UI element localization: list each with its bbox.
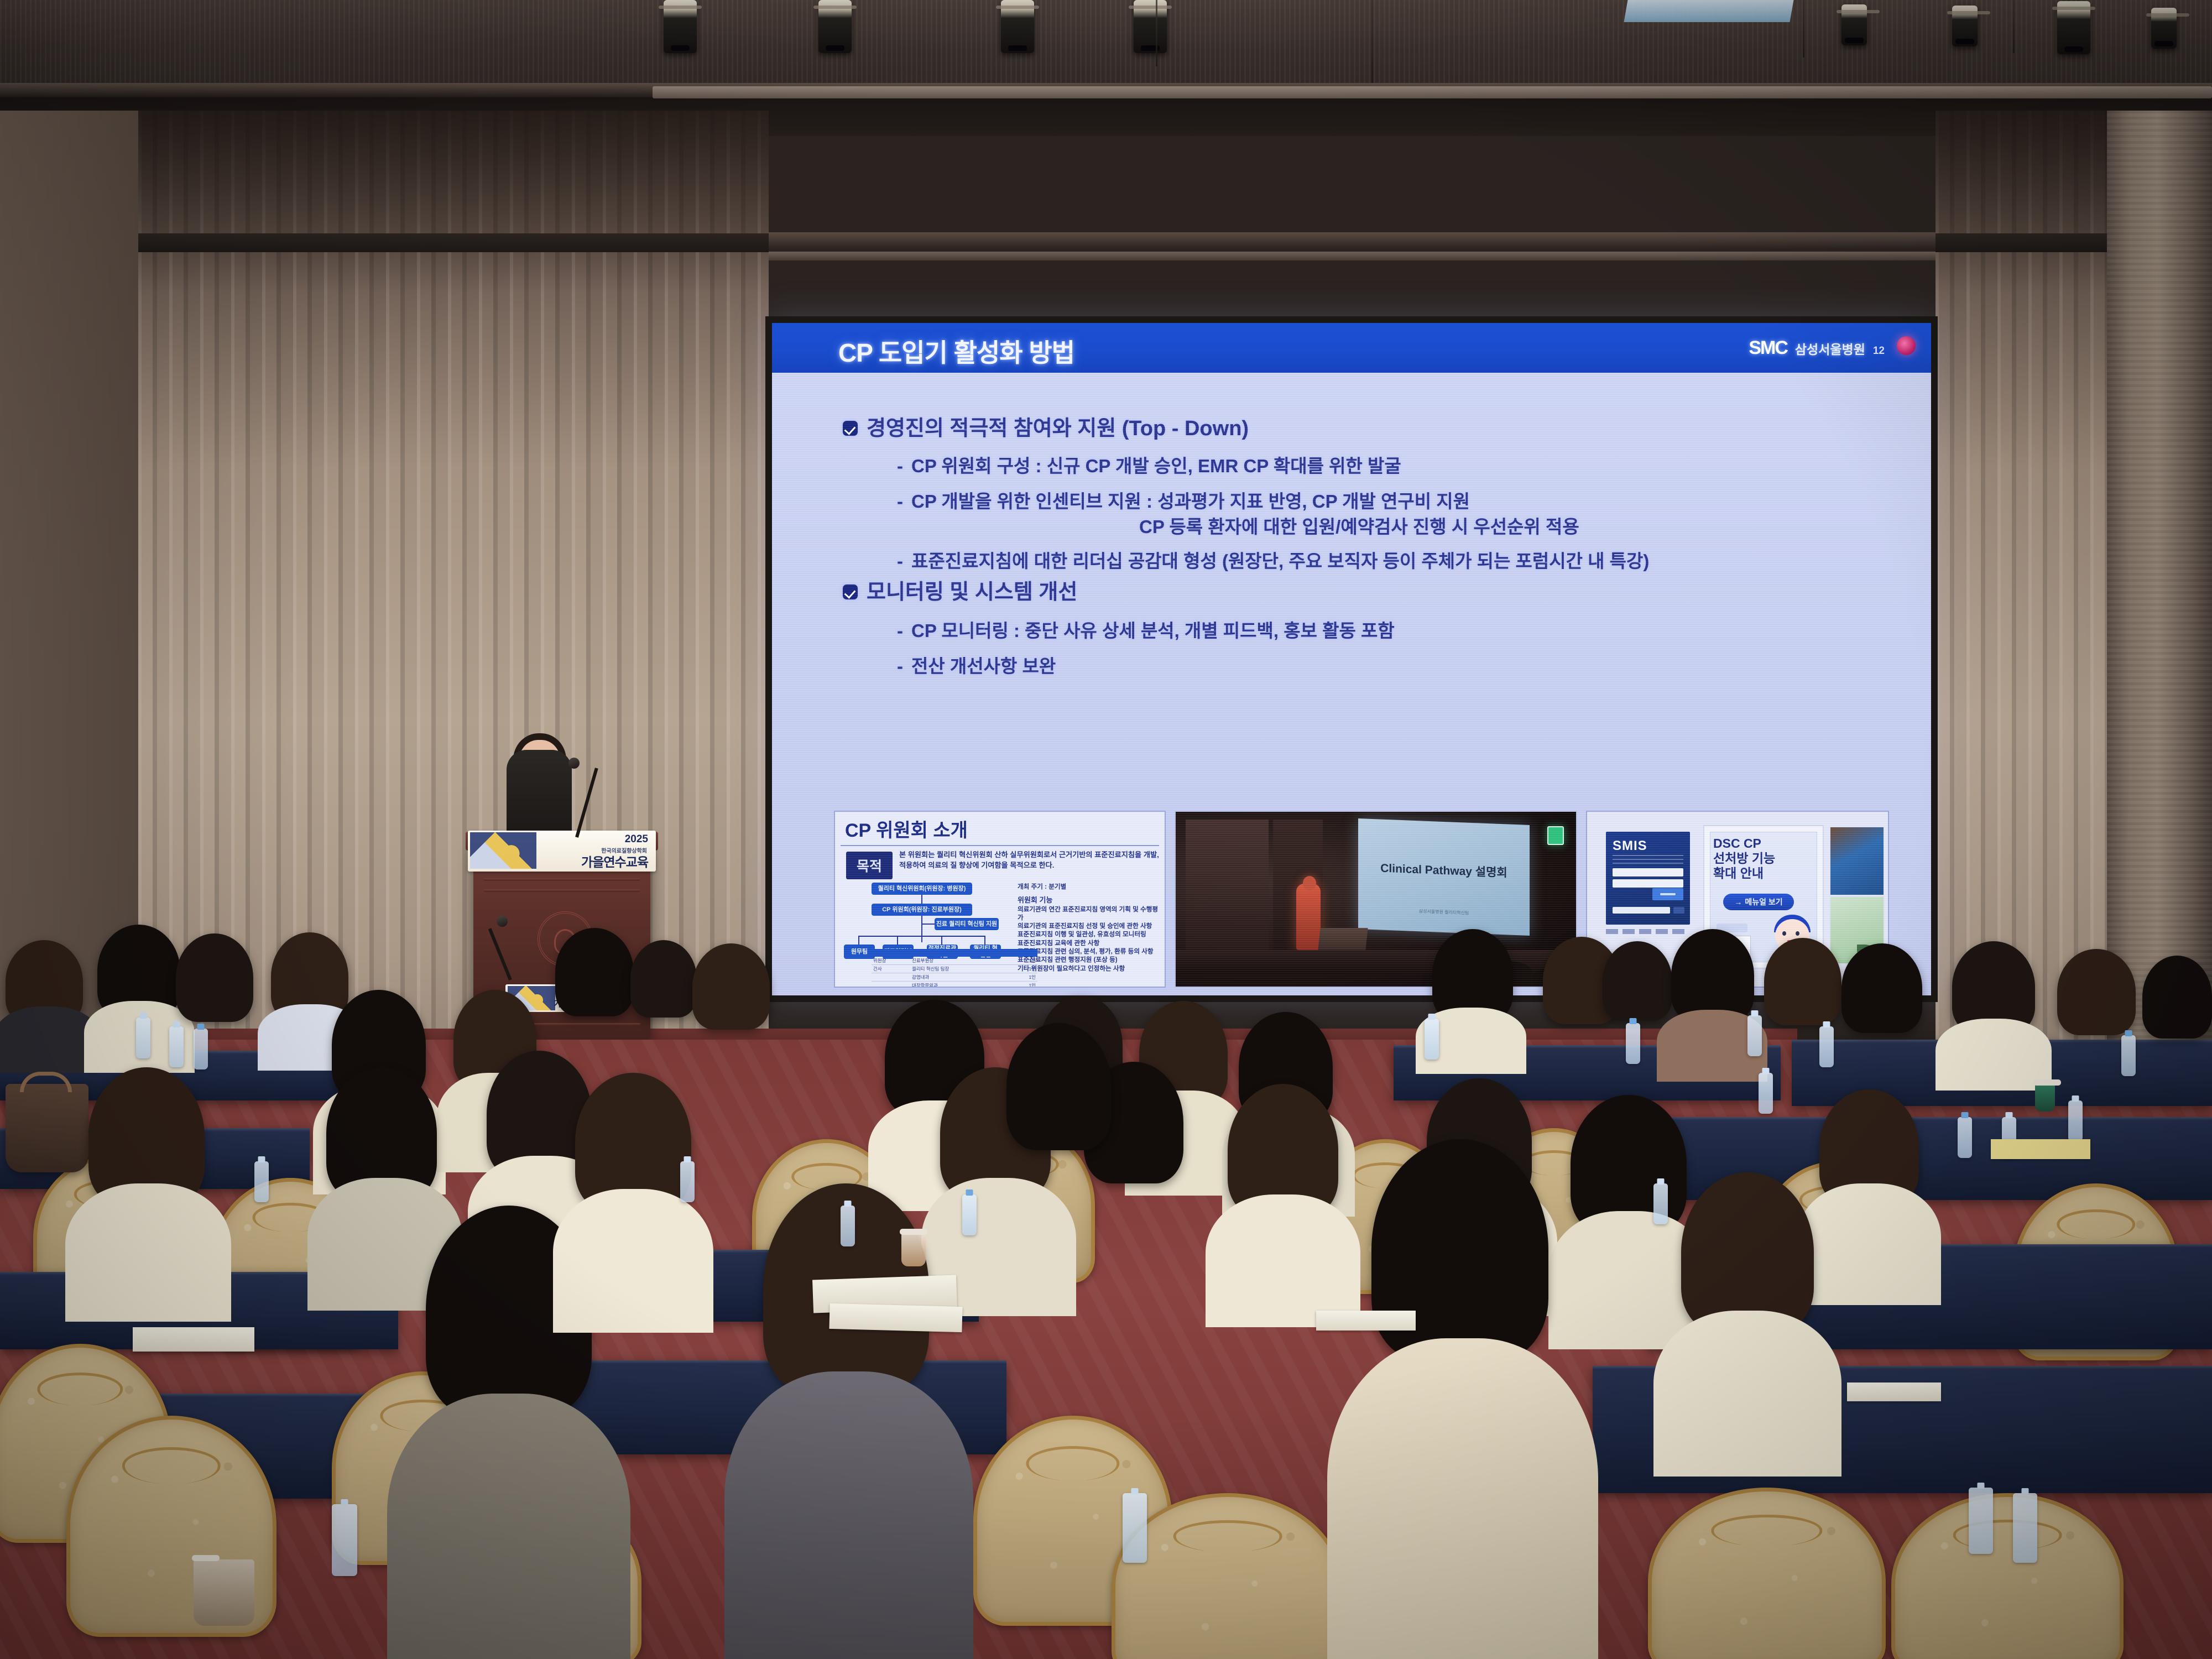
audience-member <box>176 933 253 1022</box>
photo-slide-subtitle: 삼성서울병원 퀄리티혁신팀 <box>1358 906 1530 919</box>
banquet-chair[interactable] <box>1648 1488 1886 1659</box>
committee-title: CP 위원회 소개 <box>845 815 968 842</box>
bullet-level2-text: CP 등록 환자에 대한 입원/예약검사 진행 시 우선순위 적용 <box>1139 515 1579 538</box>
water-bottle <box>1759 1073 1773 1114</box>
bullet-level1-text: 모니터링 및 시스템 개선 <box>867 580 1077 606</box>
stage-light-icon <box>1001 0 1034 53</box>
hospital-name: 삼성서울병원 <box>1795 339 1865 358</box>
brand-dot-icon <box>1897 336 1916 355</box>
water-bottle <box>962 1194 977 1235</box>
side-thumbnail-top <box>1829 826 1885 896</box>
stage-light-icon <box>1134 0 1167 53</box>
podium-banner: 2025 한국의료질향상학회 가을연수교육 <box>468 831 656 872</box>
audience-shoulders <box>387 1394 630 1659</box>
table-row: 감염내과1인 <box>872 973 1037 982</box>
water-bottle <box>1969 1488 1993 1554</box>
water-bottle <box>194 1029 208 1070</box>
handout-papers <box>829 1303 962 1332</box>
bullet-level1: 모니터링 및 시스템 개선 <box>843 580 1077 606</box>
handout-papers <box>1991 1139 2090 1159</box>
function-label: 위원회 기능 <box>1018 896 1052 904</box>
stage-light-icon <box>1841 4 1867 45</box>
smis-subtitle <box>1613 855 1683 864</box>
projection-screen: CP 도입기 활성화 방법 SMC 삼성서울병원 12 경영진의 적극적 참여와… <box>772 323 1931 995</box>
handout-papers <box>133 1327 254 1352</box>
bullet-level2-text: -CP 위원회 구성 : 신규 CP 개발 승인, EMR CP 확대를 위한 … <box>897 455 1401 477</box>
audience-shoulders <box>65 1183 231 1322</box>
org-box: 원무팀 <box>844 945 875 959</box>
water-bottle <box>841 1206 855 1246</box>
audience-member <box>1006 1023 1112 1150</box>
bullet-level2-text: -CP 개발을 위한 인센티브 지원 : 성과평가 지표 반영, CP 개발 연… <box>897 490 1470 513</box>
smis-footer-field <box>1613 907 1670 914</box>
bullet-level2-text: -표준진료지침에 대한 리더십 공감대 형성 (원장단, 주요 보직자 등이 주… <box>897 550 1649 572</box>
audience-member <box>1671 929 1754 1022</box>
audience-shoulders <box>1653 1311 1841 1477</box>
tumbler <box>2035 1084 2055 1112</box>
water-bottle <box>2121 1035 2136 1076</box>
banner-year: 2025 <box>625 833 648 846</box>
audience-member <box>630 940 697 1018</box>
smis-id-input[interactable] <box>1613 868 1683 877</box>
smis-logo: SMIS <box>1613 838 1647 854</box>
slide-title-bar: CP 도입기 활성화 방법 SMC 삼성서울병원 12 <box>772 323 1931 373</box>
audience-shoulders <box>553 1189 713 1333</box>
water-bottle <box>1819 1026 1834 1067</box>
water-bottle <box>1747 1015 1762 1056</box>
bullet-level1: 경영진의 적극적 참여와 지원 (Top - Down) <box>843 416 1249 442</box>
slide-page-number: 12 <box>1873 345 1885 357</box>
water-bottle <box>254 1161 269 1202</box>
audience-shoulders <box>724 1371 973 1659</box>
water-bottle <box>136 1018 150 1058</box>
water-bottle <box>1958 1117 1972 1158</box>
exit-sign-icon <box>1547 826 1564 845</box>
handout-papers <box>1847 1383 1941 1401</box>
org-box: CP 위원회(위원장: 진료부원장) <box>872 904 972 916</box>
stage-light-icon <box>2057 1 2090 54</box>
org-box: 진료 퀄리티 혁신팀 지원 <box>935 918 999 930</box>
water-bottle <box>1123 1493 1147 1563</box>
audience-member <box>555 928 634 1016</box>
audience-member <box>1764 938 1841 1025</box>
table-row: 위원장진료부원장1인 <box>872 957 1037 965</box>
thumbnail-auditorium-photo: Clinical Pathway 설명회 삼성서울병원 퀄리티혁신팀 <box>1175 811 1577 988</box>
ceiling-panel <box>1624 0 1793 22</box>
committee-member-table: 위원장진료부원장1인 간사퀄리티 혁신팀 팀장1인 감염내과1인 대장항문외과1… <box>872 949 1037 988</box>
audience-member <box>692 943 770 1030</box>
water-bottle <box>2068 1100 2083 1141</box>
water-bottle <box>1425 1019 1439 1060</box>
slide-body: 경영진의 적극적 참여와 지원 (Top - Down) -CP 위원회 구성 … <box>772 373 1931 995</box>
lighting-beam <box>653 86 2212 98</box>
iced-drink-cup <box>194 1559 254 1626</box>
water-bottle <box>1626 1023 1640 1064</box>
microphone-head-icon <box>497 916 508 927</box>
smis-password-input[interactable] <box>1613 879 1683 888</box>
audience-shoulders <box>1327 1338 1598 1659</box>
stage-light-icon <box>1952 6 1978 46</box>
banquet-chair[interactable] <box>1891 1493 2124 1659</box>
checkbox-icon <box>843 585 858 599</box>
table-row: 대장항문외과1인 <box>872 982 1037 988</box>
stage-light-icon <box>818 0 852 53</box>
audience-member <box>1603 941 1672 1021</box>
audience-member <box>2057 949 2136 1035</box>
water-bottle <box>1653 1183 1668 1224</box>
slide-title: CP 도입기 활성화 방법 <box>838 333 1074 369</box>
water-bottle <box>680 1161 695 1202</box>
meeting-cycle: 개최 주기 : 분기별 <box>1018 883 1162 891</box>
purpose-text: 본 위원회는 퀄리티 혁신위원회 산하 실무위원회로서 근거기반의 표준진료지침… <box>899 849 1159 870</box>
bullet-level2-text: -전산 개선사항 보완 <box>897 655 1056 677</box>
table-row: 간사퀄리티 혁신팀 팀장1인 <box>872 965 1037 973</box>
dsc-notice-title: DSC CP선처방 기능확대 안내 <box>1713 836 1775 881</box>
bullet-level1-text: 경영진의 적극적 참여와 지원 (Top - Down) <box>867 416 1249 442</box>
committee-function-list: 개최 주기 : 분기별 위원회 기능 의료기관의 연간 표준진료지침 영역의 기… <box>1018 883 1162 973</box>
audience-member <box>1841 943 1922 1033</box>
stage-light-icon <box>2151 8 2177 49</box>
drink-cup <box>901 1233 926 1266</box>
microphone-head-icon <box>568 758 580 769</box>
purpose-badge: 목적 <box>846 852 893 879</box>
audience-shoulders <box>1797 1183 1941 1305</box>
audience-member <box>2142 956 2212 1039</box>
banner-title: 가을연수교육 <box>581 852 648 870</box>
manual-view-button[interactable]: → 메뉴얼 보기 <box>1723 894 1794 910</box>
photo-projected-slide: Clinical Pathway 설명회 삼성서울병원 퀄리티혁신팀 <box>1358 818 1530 936</box>
smis-login-button[interactable] <box>1652 888 1683 900</box>
stage-light-icon <box>664 0 697 53</box>
water-bottle <box>169 1026 184 1067</box>
handout-papers <box>1316 1311 1416 1331</box>
photo-slide-title: Clinical Pathway 설명회 <box>1358 858 1530 881</box>
smis-login-panel: SMIS <box>1606 832 1690 925</box>
brand-block: SMC 삼성서울병원 12 <box>1749 337 1885 359</box>
conference-hall-scene: CP 도입기 활성화 방법 SMC 삼성서울병원 12 경영진의 적극적 참여와… <box>0 0 2212 1659</box>
thumbnail-committee-slide: CP 위원회 소개 목적 본 위원회는 퀄리티 혁신위원회 산하 실무위원회로서… <box>834 811 1166 988</box>
audience-member <box>1681 1172 1814 1333</box>
checkbox-icon <box>843 421 858 436</box>
audience-shoulders <box>1206 1194 1360 1327</box>
bullet-level2-text: -CP 모니터링 : 중단 사유 상세 분석, 개별 피드백, 홍보 활동 포함 <box>897 619 1395 642</box>
smis-footer-button[interactable] <box>1673 907 1684 914</box>
org-box: 퀄리티 혁신위원회(위원장: 병원장) <box>872 883 972 895</box>
handbag <box>6 1084 88 1172</box>
water-bottle <box>332 1504 357 1576</box>
water-bottle <box>2013 1493 2037 1563</box>
smc-logo: SMC <box>1749 337 1787 359</box>
